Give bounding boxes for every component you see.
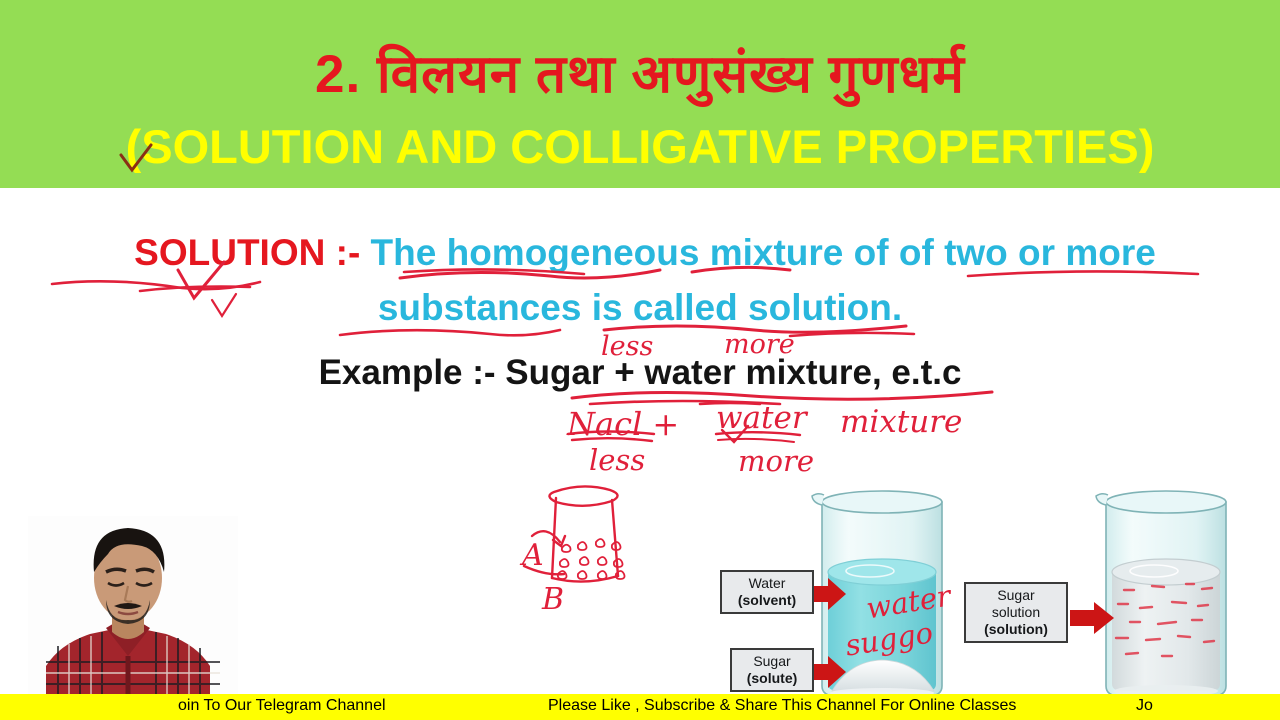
water-solvent-label-sub: (solvent) [727, 592, 807, 609]
water-solvent-label-main: Water [727, 575, 807, 592]
ink-note-water: water [716, 400, 807, 436]
page-title-hindi: 2. विलयन तथा अणुसंख्य गुणधर्म [0, 44, 1280, 106]
hand-drawn-particles [558, 539, 625, 579]
instructor-video-feed [28, 516, 238, 720]
bottom-marquee-banner: oin To Our Telegram Channel Please Like … [0, 694, 1280, 720]
keyword-separator: :- [325, 232, 370, 273]
sugar-solution-label-main: Sugar [971, 587, 1061, 604]
lecture-slide-screen: 2. विलयन तथा अणुसंख्य गुणधर्म (SOLUTION … [0, 0, 1280, 720]
sugar-solute-label-main: Sugar [737, 653, 807, 670]
solution-formation-diagram: Water (solvent) Sugar (solute) Sugar sol… [700, 472, 1280, 700]
definition-line-2: substances is called solution. [0, 287, 1280, 329]
sugar-solution-beaker [1096, 491, 1226, 697]
ink-note-less-sugar: less [601, 331, 653, 362]
slide-header-banner: 2. विलयन तथा अणुसंख्य गुणधर्म (SOLUTION … [0, 0, 1280, 188]
sugar-solution-label: Sugar solution (solution) [964, 582, 1068, 643]
instructor-figure [28, 516, 238, 720]
sugar-solution-label-sub: (solution) [971, 621, 1061, 638]
ink-note-mixture: mixture [840, 404, 962, 440]
keyword-solution: SOLUTION [134, 232, 325, 273]
sugar-solute-label: Sugar (solute) [730, 648, 814, 692]
marquee-text-3: Jo [1136, 697, 1153, 715]
water-solvent-label: Water (solvent) [720, 570, 814, 614]
ink-note-label-b: B [542, 582, 564, 617]
ink-note-more-nacl: more [738, 444, 814, 478]
ink-note-more-water: more [724, 329, 795, 360]
definition-text-1: The homogeneous mixture of of two or mor… [371, 232, 1156, 273]
definition-line-1: SOLUTION :- The homogeneous mixture of o… [0, 232, 1280, 274]
marquee-text-2: Please Like , Subscribe & Share This Cha… [548, 697, 1016, 715]
ink-note-less-nacl: less [589, 443, 645, 477]
marquee-text-1: oin To Our Telegram Channel [178, 697, 386, 715]
ink-note-nacl: Nacl + [567, 405, 679, 443]
page-title-english: (SOLUTION AND COLLIGATIVE PROPERTIES) [0, 118, 1280, 176]
check-icon [118, 142, 154, 176]
sugar-solute-label-sub: (solute) [737, 670, 807, 687]
ink-note-label-a: A [522, 538, 544, 573]
sugar-solution-label-main2: solution [971, 604, 1061, 621]
